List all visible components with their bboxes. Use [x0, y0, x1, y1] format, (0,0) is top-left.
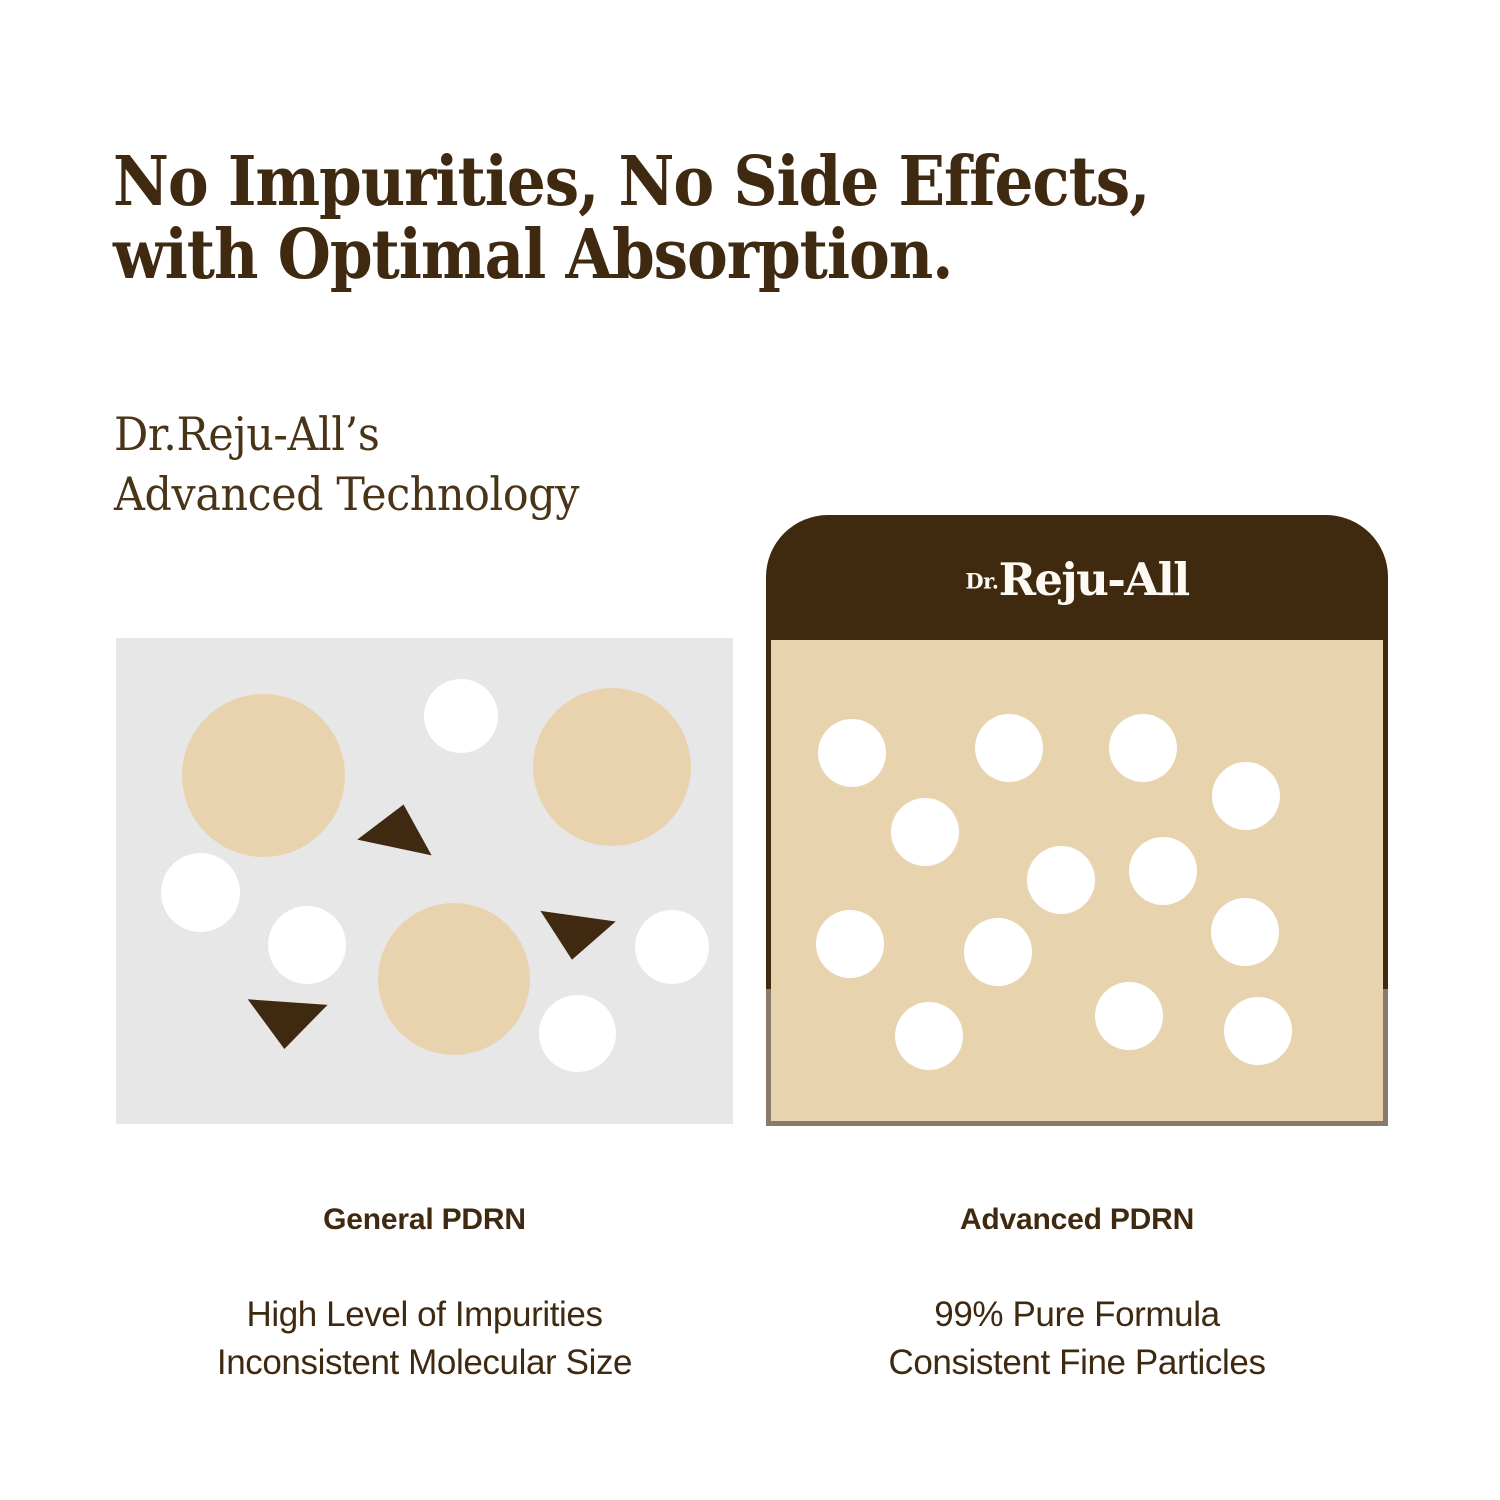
bottle-liquid-area	[771, 640, 1383, 1121]
fine-particle	[1211, 898, 1279, 966]
fine-particle	[964, 918, 1032, 986]
caption-advanced-lines: 99% Pure Formula Consistent Fine Particl…	[766, 1291, 1388, 1386]
caption-general-title: General PDRN	[116, 1203, 733, 1237]
caption-general-lines: High Level of Impurities Inconsistent Mo…	[116, 1291, 733, 1386]
fine-particle	[1129, 837, 1197, 905]
advanced-pdrn-illustration: Dr.Reju-All	[766, 515, 1388, 1126]
caption-advanced: Advanced PDRN 99% Pure Formula Consisten…	[766, 1203, 1388, 1386]
logo-name: Reju-All	[999, 553, 1189, 606]
general-pdrn-illustration	[116, 638, 733, 1124]
subtitle: Dr.Reju-All’s Advanced Technology	[114, 405, 821, 525]
fine-particle	[975, 714, 1043, 782]
page-title: No Impurities, No Side Effects, with Opt…	[113, 146, 1238, 292]
brand-logo: Dr.Reju-All	[766, 553, 1388, 606]
small-particle	[268, 906, 346, 984]
fine-particle	[818, 719, 886, 787]
fine-particle	[1212, 762, 1280, 830]
large-particle	[182, 694, 345, 857]
caption-general: General PDRN High Level of Impurities In…	[116, 1203, 733, 1386]
caption-advanced-title: Advanced PDRN	[766, 1203, 1388, 1237]
small-particle	[635, 910, 709, 984]
fine-particle	[1027, 846, 1095, 914]
small-particle	[539, 995, 616, 1072]
fine-particle	[1095, 982, 1163, 1050]
small-particle	[161, 853, 240, 932]
fine-particle	[891, 798, 959, 866]
large-particle	[533, 688, 691, 846]
fine-particle	[1224, 997, 1292, 1065]
fine-particle	[1109, 714, 1177, 782]
impurity-triangle-icon	[534, 911, 615, 965]
fine-particle	[895, 1002, 963, 1070]
large-particle	[378, 903, 530, 1055]
logo-prefix: Dr.	[965, 569, 998, 594]
infographic-page: No Impurities, No Side Effects, with Opt…	[0, 0, 1500, 1500]
impurity-triangle-icon	[244, 999, 327, 1051]
impurity-triangle-icon	[357, 797, 440, 856]
small-particle	[424, 679, 498, 753]
fine-particle	[816, 910, 884, 978]
